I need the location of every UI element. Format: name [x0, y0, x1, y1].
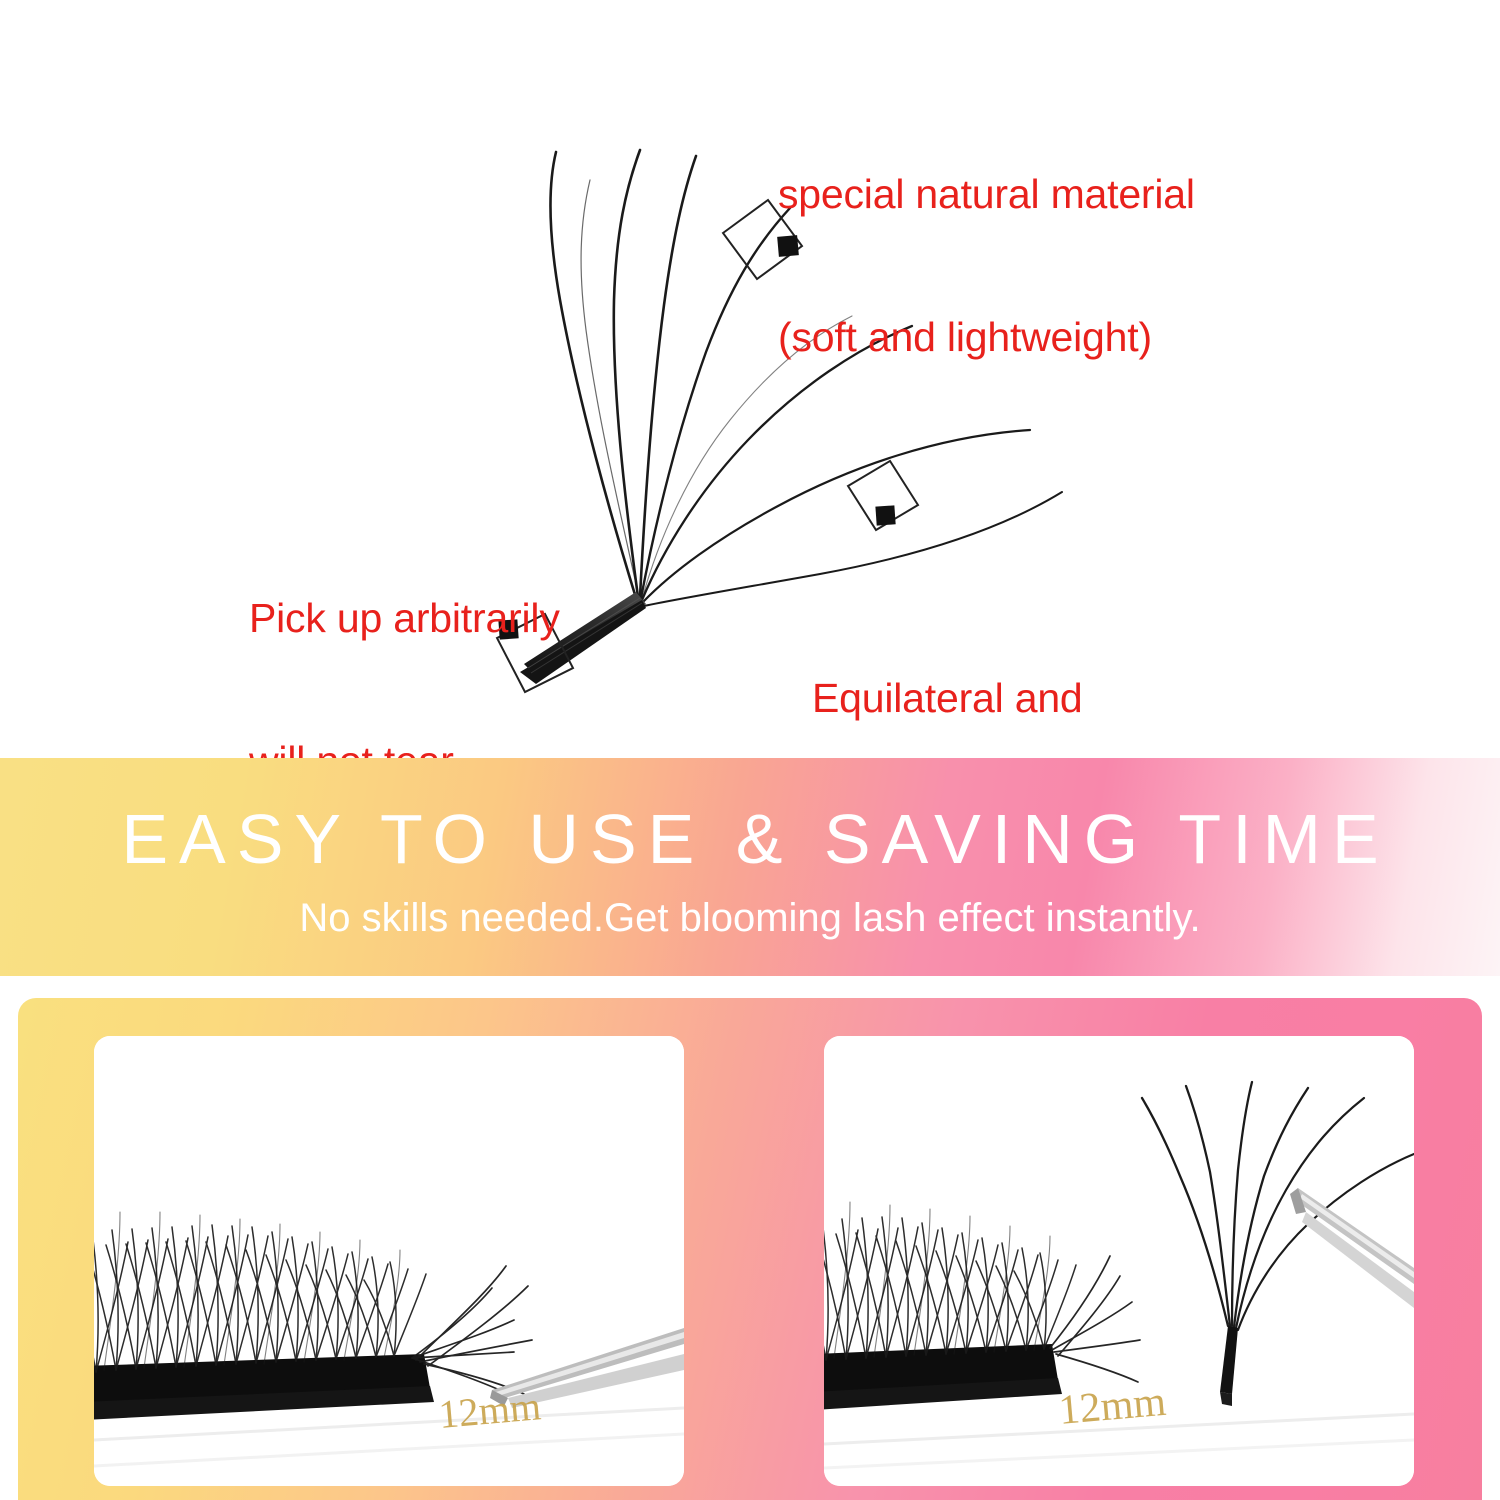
square-marker-icon [848, 461, 918, 530]
callout-pick-up-arbitrarily: Pick up arbitrarily will not tear [249, 500, 560, 758]
photo-panel-lash-tray-with-tweezers[interactable]: 12mm [94, 1036, 684, 1486]
lash-fan-icon [0, 0, 1500, 758]
callout-line-1: special natural material [778, 171, 1195, 219]
callout-line-2: will not tear [249, 738, 560, 758]
lash-tray-icon: 12mm [824, 1036, 1414, 1486]
hero-section: special natural material (soft and light… [0, 0, 1500, 758]
banner-title: EASY TO USE & SAVING TIME [0, 804, 1500, 874]
size-label-text: 12mm [1057, 1379, 1168, 1434]
banner-subtitle: No skills needed.Get blooming lash effec… [0, 898, 1500, 938]
promo-banner: EASY TO USE & SAVING TIME No skills need… [0, 758, 1500, 976]
photo-gallery-section: 12mm [18, 998, 1482, 1500]
lash-tray-icon: 12mm [94, 1036, 684, 1486]
callout-special-natural-material: special natural material (soft and light… [778, 76, 1195, 456]
callout-equilateral-equidistant: Equilateral and equidistant large patter… [812, 580, 1247, 758]
photo-panel-lash-fan-lifted-by-tweezers[interactable]: 12mm [824, 1036, 1414, 1486]
callout-line-1: Equilateral and [812, 675, 1247, 723]
size-label-text: 12mm [437, 1383, 543, 1437]
callout-line-2: (soft and lightweight) [778, 314, 1195, 362]
callout-line-1: Pick up arbitrarily [249, 595, 560, 643]
